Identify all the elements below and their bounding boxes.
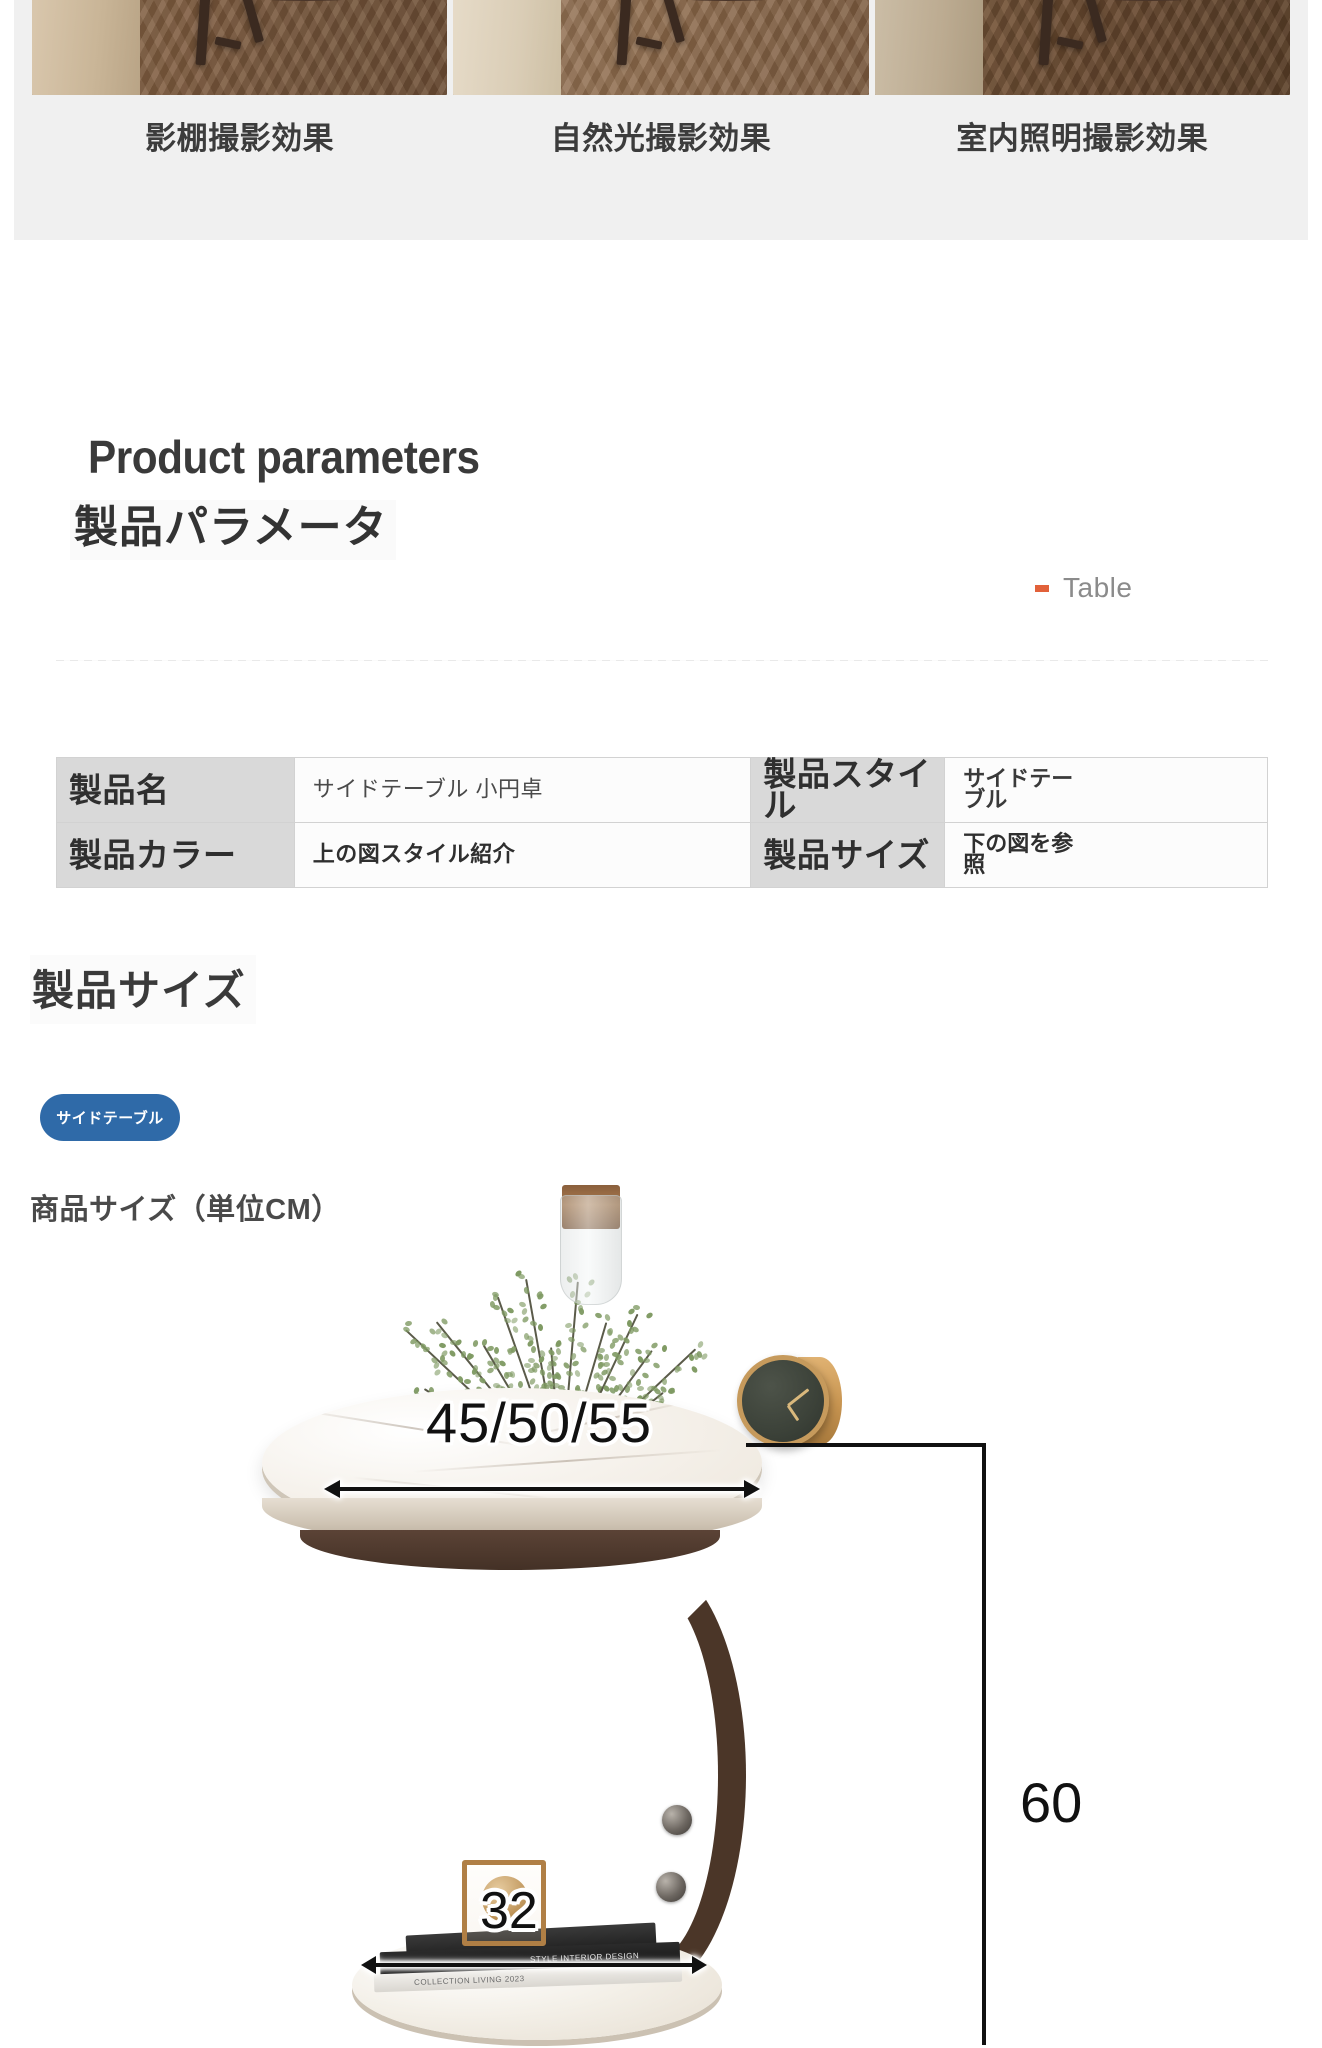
arrow-right-icon [744,1480,760,1498]
dimension-line-height [982,1445,986,2045]
dimension-line-shelf [374,1963,694,1967]
spec-label-product-name: 製品名 [57,758,295,823]
spec-value-product-color: 上の図スタイル紹介 [294,823,751,888]
dimension-tick-top [746,1443,986,1447]
size-section-title: 製品サイズ [30,955,256,1024]
table-row: 製品名 サイドテーブル 小円卓 製品スタイル サイドテーブル [57,758,1268,823]
dimension-label-shelf: 32 [480,1885,538,1937]
section-divider [56,660,1268,661]
dimension-label-height: 60 [1020,1775,1082,1831]
spec-value-product-name: サイドテーブル 小円卓 [294,758,751,823]
photo-captions: 影棚撮影効果 自然光撮影効果 室内照明撮影効果 [14,122,1308,182]
arrow-left-icon [361,1956,376,1974]
spec-value-product-size: 下の図を参照 [945,823,1268,888]
params-title-jp: 製品パラメータ [70,500,396,560]
dash-marker-icon [1035,585,1049,592]
spec-label-product-style: 製品スタイル [751,758,945,823]
table-row: 製品カラー 上の図スタイル紹介 製品サイズ 下の図を参照 [57,823,1268,888]
book-spine-text: COLLECTION LIVING 2023 [414,1974,525,1987]
product-detail-page: 影棚撮影効果 自然光撮影効果 室内照明撮影効果 Product paramete… [0,0,1322,2048]
size-unit-caption: 商品サイズ（単位CM） [30,1186,341,1228]
params-title-en: Product parameters [88,434,480,480]
spec-value-product-style: サイドテーブル [945,758,1268,823]
photo-indoor-lighting [875,0,1290,95]
photo-studio [32,0,447,95]
arrow-right-icon [692,1956,707,1974]
leg-stud [662,1805,692,1835]
size-variant-pill[interactable]: サイドテーブル [40,1094,180,1141]
photo-row [14,0,1308,95]
photo-caption-natural-light: 自然光撮影効果 [453,122,868,182]
desk-clock [737,1355,829,1447]
leg-stud [656,1872,686,1902]
photo-caption-studio: 影棚撮影効果 [32,122,447,182]
photo-caption-indoor-lighting: 室内照明撮影効果 [875,122,1290,182]
table-tag: Table [1035,572,1132,604]
spec-label-product-color: 製品カラー [57,823,295,888]
spec-label-product-size: 製品サイズ [751,823,945,888]
spec-table: 製品名 サイドテーブル 小円卓 製品スタイル サイドテーブル 製品カラー 上の図… [56,757,1268,888]
dimension-line-diameter [338,1487,746,1491]
photo-comparison-strip: 影棚撮影効果 自然光撮影効果 室内照明撮影効果 [14,0,1308,240]
table-tag-label: Table [1063,572,1132,604]
photo-natural-light [453,0,868,95]
arrow-left-icon [324,1480,340,1498]
glass-vase [560,1195,622,1305]
dimension-label-diameter: 45/50/55 [426,1395,652,1451]
